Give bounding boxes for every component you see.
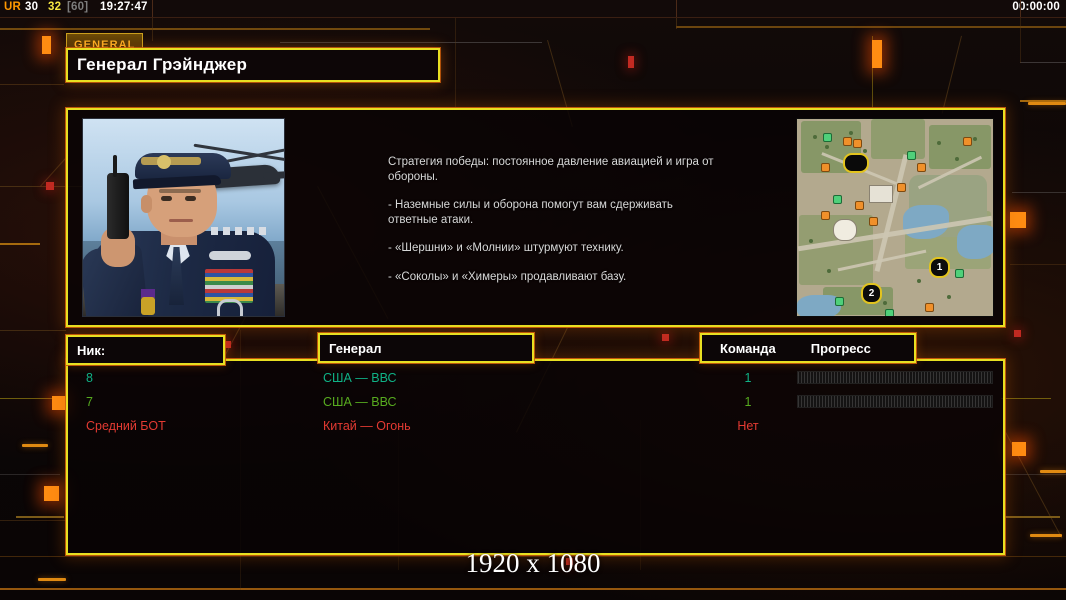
row-progress-bar	[797, 395, 993, 408]
page-title: Генерал Грэйнджер	[68, 55, 247, 75]
bg-trace	[1020, 17, 1021, 63]
bg-dash	[1040, 470, 1066, 473]
bg-trace	[152, 17, 153, 41]
bg-trace	[1010, 264, 1066, 265]
bg-trace	[0, 243, 40, 245]
status-time: 19:27:47	[100, 1, 148, 13]
table-row[interactable]: 7 США — ВВС 1	[68, 390, 1003, 414]
status-value-b: 32	[48, 1, 61, 13]
general-portrait	[82, 118, 285, 317]
map-preview[interactable]: 1 2	[796, 118, 994, 317]
status-value-a: 30	[25, 1, 38, 13]
column-header-general[interactable]: Генерал	[318, 333, 534, 363]
row-general: США — ВВС	[323, 395, 397, 409]
bg-trace	[1001, 398, 1051, 399]
bg-trace	[0, 28, 430, 30]
column-header-nick-label: Ник:	[68, 343, 105, 358]
bg-trace	[0, 330, 66, 331]
column-header-progress-label: Прогресс	[802, 341, 871, 356]
status-divider	[1020, 0, 1021, 17]
bg-dash	[1004, 516, 1060, 518]
bg-trace	[40, 155, 69, 187]
bg-trace	[455, 17, 456, 107]
accent-block	[42, 36, 51, 54]
bg-trace	[942, 36, 962, 114]
desc-line-2: - «Шершни» и «Молнии» штурмуют технику.	[388, 241, 718, 256]
bg-trace	[1012, 192, 1066, 193]
status-divider	[152, 0, 153, 17]
row-team: 1	[737, 371, 759, 385]
bg-trace	[280, 42, 542, 43]
table-row[interactable]: Средний БОТ Китай — Огонь Нет	[68, 414, 1003, 438]
desc-line-0: Стратегия победы: постоянное давление ав…	[388, 155, 718, 184]
bg-trace	[0, 84, 64, 85]
resolution-label: 1920 x 1080	[0, 548, 1066, 579]
accent-block	[46, 182, 54, 190]
accent-block	[44, 486, 59, 501]
bg-trace	[1020, 62, 1066, 63]
accent-block	[872, 40, 882, 68]
strategy-description: Стратегия победы: постоянное давление ав…	[388, 155, 718, 298]
row-progress-bar	[797, 371, 993, 384]
row-team: Нет	[737, 419, 759, 433]
accent-block	[1012, 442, 1026, 456]
table-row[interactable]: 8 США — ВВС 1	[68, 366, 1003, 390]
desc-line-3: - «Соколы» и «Химеры» продавливают базу.	[388, 270, 718, 285]
row-nick: Средний БОТ	[86, 419, 166, 433]
status-divider	[676, 0, 677, 17]
column-header-general-label: Генерал	[320, 341, 381, 356]
accent-block	[662, 334, 669, 341]
bg-dash	[1028, 102, 1066, 105]
accent-block	[1010, 212, 1026, 228]
row-nick: 8	[86, 371, 93, 385]
accent-block	[224, 341, 231, 348]
row-team: 1	[737, 395, 759, 409]
general-name-plate[interactable]: Генерал Грэйнджер	[66, 48, 440, 82]
map-start-position-1: 1	[929, 257, 950, 278]
row-general: Китай — Огонь	[323, 419, 411, 433]
status-bar: UR 30 32 [60] 19:27:47 00:00:00	[0, 0, 1066, 18]
accent-block	[628, 56, 634, 68]
bg-trace	[676, 26, 1066, 28]
bg-dash	[1030, 534, 1062, 537]
status-value-c: [60]	[67, 1, 88, 13]
bg-trace	[1002, 474, 1066, 475]
map-start-position-2: 2	[861, 283, 882, 304]
column-header-team-label: Команда	[711, 341, 776, 356]
bg-trace	[0, 474, 60, 475]
bg-dash	[16, 516, 64, 518]
column-header-team-progress[interactable]: Команда Прогресс	[700, 333, 916, 363]
accent-block	[52, 396, 66, 410]
bg-trace	[0, 588, 1066, 590]
bg-dash	[22, 444, 48, 447]
player-roster-panel: 8 США — ВВС 1 7 США — ВВС 1 Средний БОТ …	[66, 359, 1005, 555]
row-general: США — ВВС	[323, 371, 397, 385]
bg-trace	[676, 17, 677, 29]
accent-block	[1014, 330, 1021, 337]
desc-line-1: - Наземные силы и оборона помогут вам сд…	[388, 198, 718, 227]
status-tag: UR	[4, 1, 21, 13]
bg-trace	[0, 520, 66, 521]
row-nick: 7	[86, 395, 93, 409]
general-info-panel: Стратегия победы: постоянное давление ав…	[66, 108, 1005, 327]
column-header-nick[interactable]: Ник:	[66, 335, 225, 365]
